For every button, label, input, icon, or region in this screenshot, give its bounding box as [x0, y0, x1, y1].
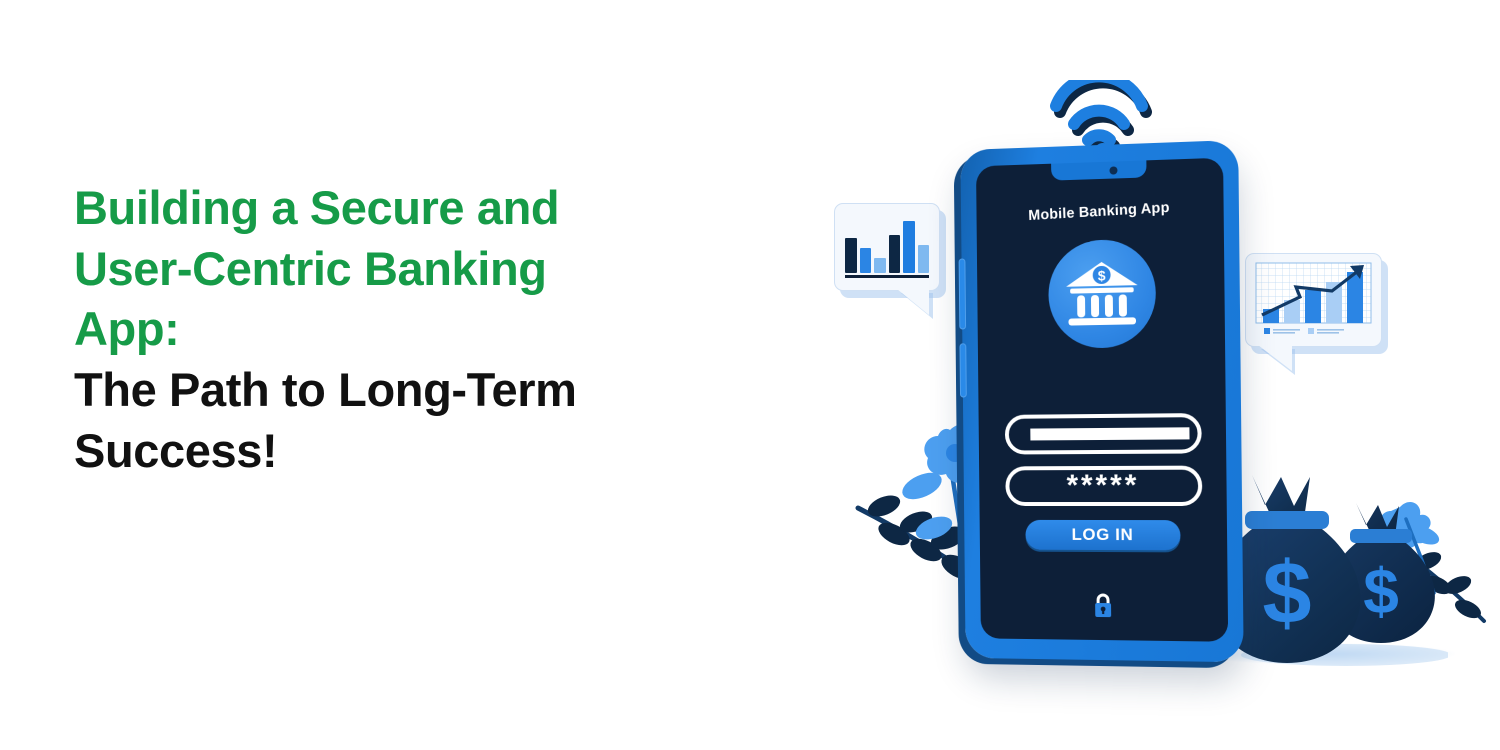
banking-app-illustration: Mobile Banking App $: [820, 55, 1460, 715]
chart-axis: [845, 275, 929, 279]
bubble-tail: [897, 289, 929, 315]
bar: [903, 221, 915, 273]
headline-black-line-1: The Path to Long-Term: [74, 360, 774, 421]
growth-chart-bubble: [1245, 253, 1382, 347]
username-value-bar: [1030, 427, 1189, 440]
bar: [918, 245, 930, 273]
svg-text:$: $: [1097, 267, 1105, 283]
app-title: Mobile Banking App: [976, 197, 1224, 227]
phone-notch: [1051, 160, 1146, 180]
bar-chart-bubble: [834, 203, 940, 291]
bar: [889, 235, 901, 273]
svg-text:$: $: [1363, 555, 1399, 627]
banner-root: Building a Secure and User-Centric Banki…: [0, 0, 1500, 750]
volume-down-button[interactable]: [959, 343, 966, 397]
username-input[interactable]: [1005, 413, 1202, 454]
headline-green-line-2: User-Centric Banking: [74, 239, 774, 300]
password-masked-value: *****: [1009, 471, 1198, 501]
login-button-label: LOG IN: [1025, 520, 1180, 550]
bar: [874, 258, 886, 273]
phone-screen: Mobile Banking App $: [976, 158, 1228, 642]
page-title: Building a Secure and User-Centric Banki…: [74, 178, 774, 481]
login-button[interactable]: LOG IN: [1025, 520, 1180, 550]
smartphone-mockup: Mobile Banking App $: [960, 145, 1240, 660]
money-bag-icon: $ $: [1228, 455, 1448, 670]
padlock-icon: [1091, 592, 1115, 618]
headline-black-line-2: Success!: [74, 421, 774, 482]
bank-building-icon: $: [1047, 239, 1155, 349]
phone-body: Mobile Banking App $: [960, 140, 1243, 662]
bar: [860, 248, 872, 273]
volume-up-button[interactable]: [959, 258, 966, 329]
mini-bar-chart: [845, 217, 929, 273]
headline-green-line-3: App:: [74, 299, 774, 360]
bubble-tail: [1258, 345, 1292, 371]
growth-chart: [1254, 261, 1373, 339]
front-camera-icon: [1109, 166, 1117, 174]
headline-green-line-1: Building a Secure and: [74, 178, 774, 239]
svg-text:$: $: [1263, 543, 1312, 642]
bar: [845, 238, 857, 273]
password-input[interactable]: *****: [1005, 466, 1202, 506]
